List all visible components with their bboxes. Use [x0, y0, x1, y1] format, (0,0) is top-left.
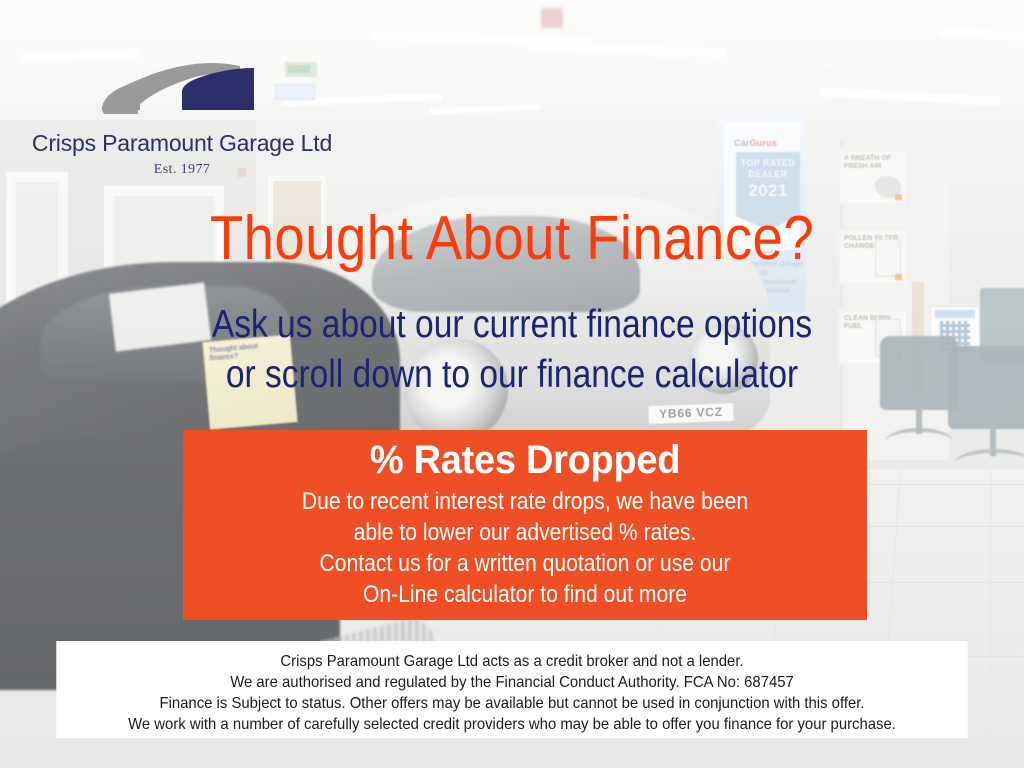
disclaimer-line-1: Crisps Paramount Garage Ltd acts as a cr…: [56, 651, 967, 672]
promo-graphic: CarGurus TOP RATED DEALER 2021 Crisps Pa…: [0, 0, 1024, 768]
subheading: Ask us about our current finance options…: [72, 300, 953, 400]
page-title: Thought About Finance?: [61, 206, 962, 272]
disclaimer-line-4: We work with a number of carefully selec…: [56, 714, 967, 735]
panel-title: % Rates Dropped: [200, 436, 850, 484]
panel-line-3: Contact us for a written quotation or us…: [224, 548, 826, 579]
promo-overlay: Crisps Paramount Garage Ltd Est. 1977 Th…: [0, 0, 1024, 768]
company-name: Crisps Paramount Garage Ltd: [22, 130, 342, 157]
disclaimer-line-2: We are authorised and regulated by the F…: [56, 672, 967, 693]
rates-dropped-panel: % Rates Dropped Due to recent interest r…: [183, 430, 867, 620]
panel-line-2: able to lower our advertised % rates.: [224, 517, 826, 548]
car-silhouette-logo-icon: [94, 52, 270, 124]
legal-disclaimer: Crisps Paramount Garage Ltd acts as a cr…: [56, 641, 967, 738]
established-year: Est. 1977: [22, 162, 342, 178]
subheading-line-1: Ask us about our current finance options: [72, 300, 953, 350]
company-logo: Crisps Paramount Garage Ltd Est. 1977: [22, 52, 342, 178]
subheading-line-2: or scroll down to our finance calculator: [72, 350, 953, 400]
panel-line-4: On-Line calculator to find out more: [224, 579, 826, 610]
panel-line-1: Due to recent interest rate drops, we ha…: [224, 486, 826, 517]
panel-body: Due to recent interest rate drops, we ha…: [224, 486, 826, 610]
disclaimer-line-3: Finance is Subject to status. Other offe…: [56, 693, 967, 714]
